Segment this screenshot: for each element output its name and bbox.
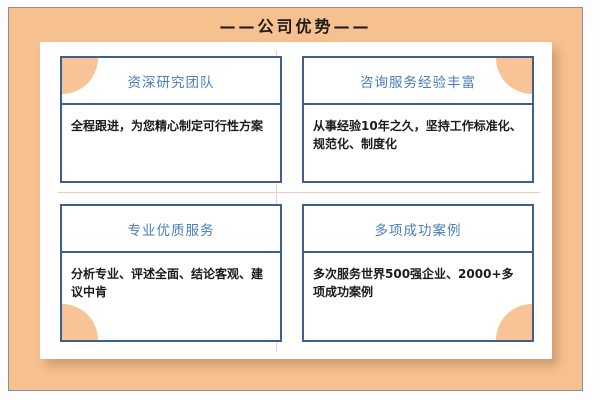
card-body: 全程跟进，为您精心制定可行性方案 xyxy=(62,105,280,135)
slide-title-bar: ——公司优势—— xyxy=(8,7,583,42)
slide-canvas: ——公司优势—— 资深研究团队 全程跟进，为您精心制定可行性方案 咨询服务经验丰… xyxy=(0,0,600,400)
card-body: 多次服务世界500强企业、2000+多项成功案例 xyxy=(304,253,532,301)
card-body: 从事经验10年之久，坚持工作标准化、规范化、制度化 xyxy=(304,105,532,153)
card-heading: 专业优质服务 xyxy=(128,219,215,239)
card-heading: 资深研究团队 xyxy=(128,71,215,91)
page-title: ——公司优势—— xyxy=(219,13,371,37)
card-body-text: 分析专业、评述全面、结论客观、建议中肯 xyxy=(71,267,263,299)
advantage-card[interactable]: 多项成功案例 多次服务世界500强企业、2000+多项成功案例 xyxy=(302,204,534,342)
advantage-card[interactable]: 资深研究团队 全程跟进，为您精心制定可行性方案 xyxy=(60,56,282,183)
card-header: 多项成功案例 xyxy=(304,206,532,253)
quarter-circle-decoration-icon xyxy=(496,304,532,340)
card-header: 专业优质服务 xyxy=(62,206,280,253)
card-body-text: 多次服务世界500强企业、2000+多项成功案例 xyxy=(313,267,514,299)
quarter-circle-decoration-icon xyxy=(62,304,98,340)
advantage-card-grid: 资深研究团队 全程跟进，为您精心制定可行性方案 咨询服务经验丰富 从事经验10年… xyxy=(40,42,552,359)
content-panel: 资深研究团队 全程跟进，为您精心制定可行性方案 咨询服务经验丰富 从事经验10年… xyxy=(40,42,552,359)
card-heading: 多项成功案例 xyxy=(375,219,462,239)
card-header: 咨询服务经验丰富 xyxy=(304,58,532,105)
card-body-text: 全程跟进，为您精心制定可行性方案 xyxy=(71,119,263,133)
card-body: 分析专业、评述全面、结论客观、建议中肯 xyxy=(62,253,280,301)
advantage-card[interactable]: 专业优质服务 分析专业、评述全面、结论客观、建议中肯 xyxy=(60,204,282,342)
card-body-text: 从事经验10年之久，坚持工作标准化、规范化、制度化 xyxy=(313,119,522,151)
card-heading: 咨询服务经验丰富 xyxy=(360,71,476,91)
advantage-card[interactable]: 咨询服务经验丰富 从事经验10年之久，坚持工作标准化、规范化、制度化 xyxy=(302,56,534,183)
card-header: 资深研究团队 xyxy=(62,58,280,105)
